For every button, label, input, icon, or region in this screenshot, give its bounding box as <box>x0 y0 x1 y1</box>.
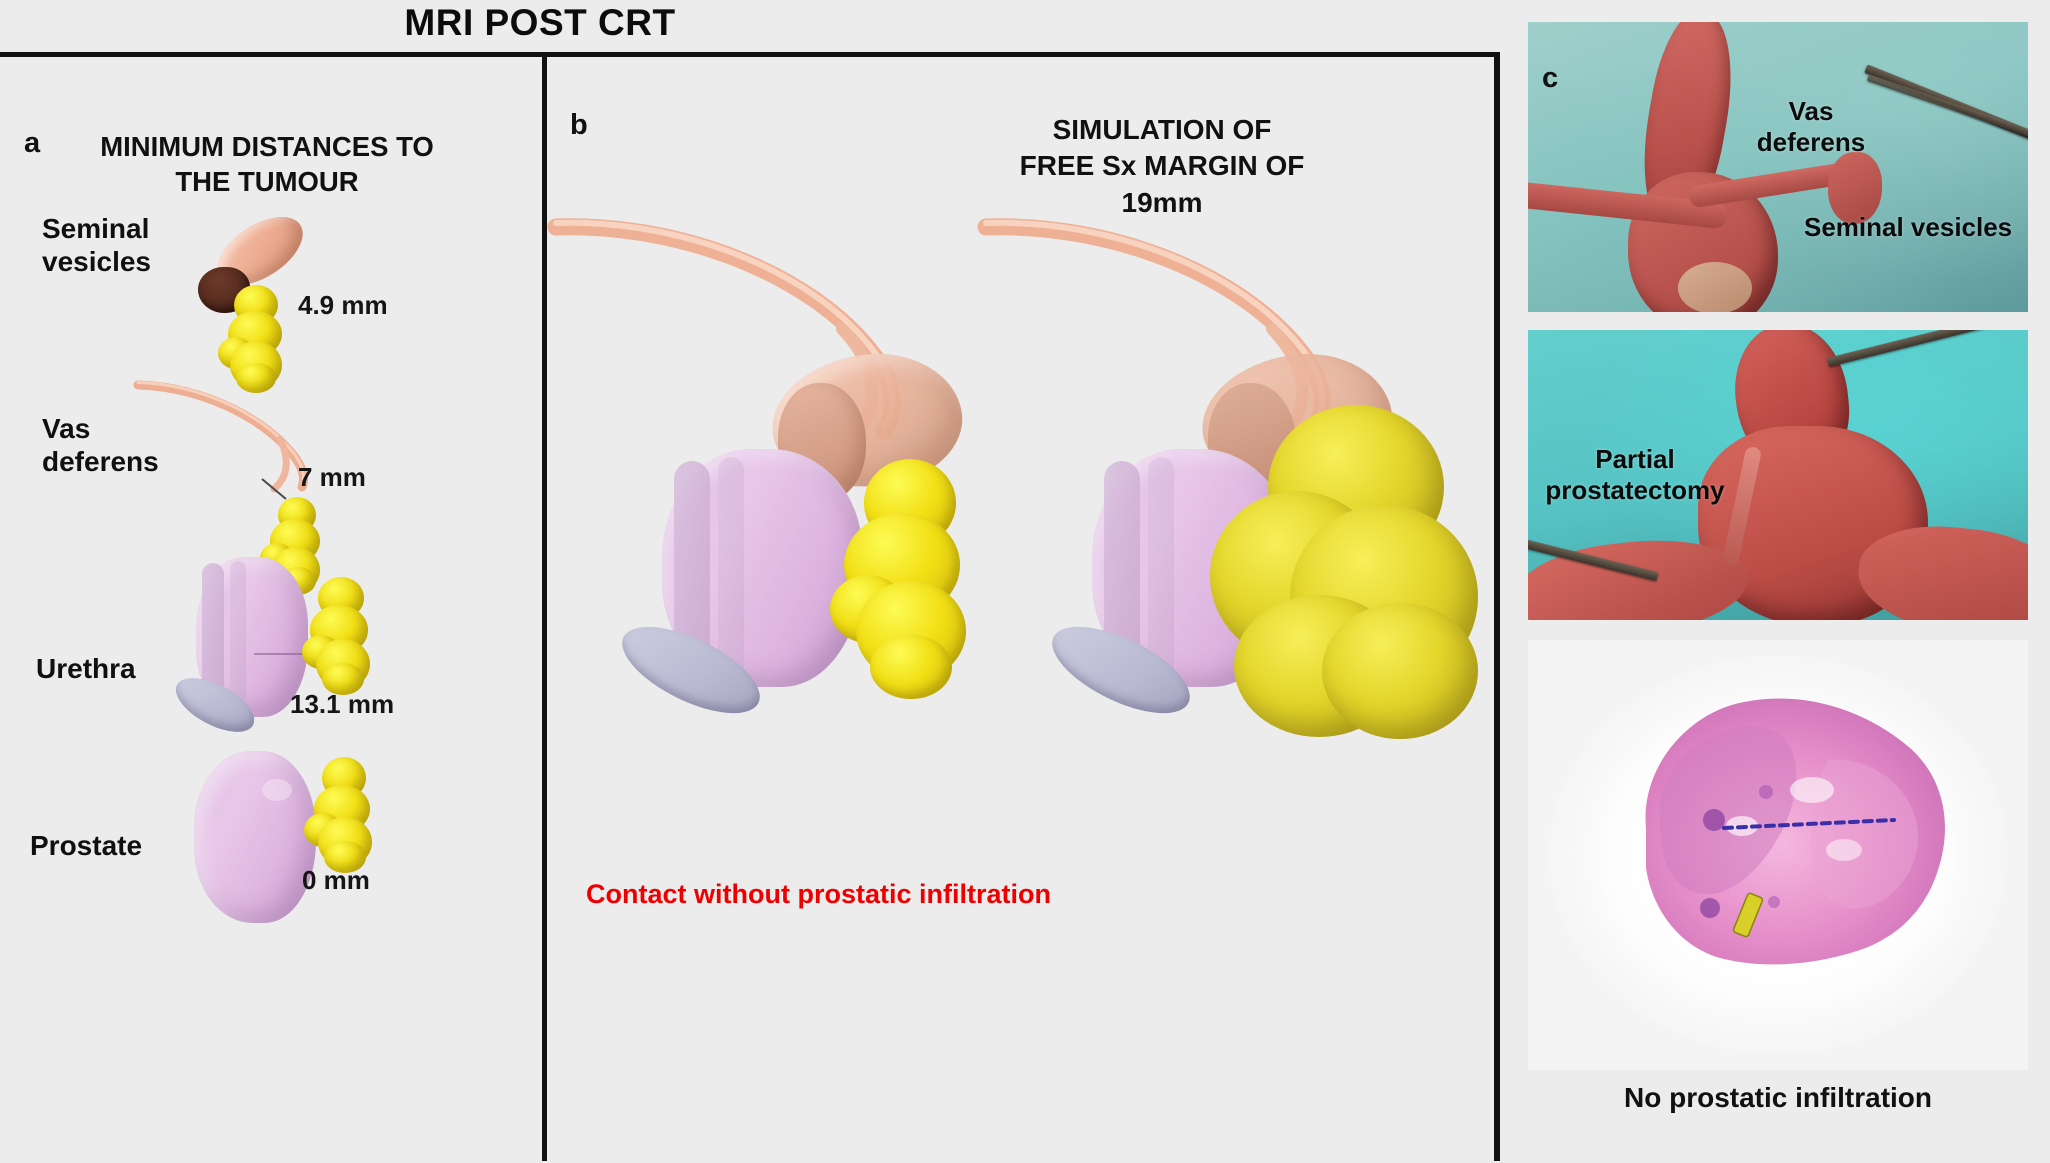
panel-a-title-line1: MINIMUM DISTANCES TO <box>100 131 434 162</box>
panel-a-title-line2: THE TUMOUR <box>175 166 358 197</box>
photo-label-vas-line1: Vas <box>1789 96 1834 126</box>
figure-root: MRI POST CRT a MINIMUM DISTANCES TO THE … <box>0 0 2050 1163</box>
panel-b: b SIMULATION OF FREE Sx MARGIN OF 19mm <box>552 57 1500 1161</box>
photo-partial-prostatectomy: Partial prostatectomy <box>1528 330 2028 620</box>
distance-urethra: 13.1 mm <box>290 689 394 720</box>
photo-specimen-vas-deferens: c Vas deferens Seminal vesicles <box>1528 22 2028 312</box>
panel-c-caption: No prostatic infiltration <box>1528 1082 2028 1114</box>
model-3d-actual-tumour <box>542 187 1042 827</box>
panel-b-title-line2: FREE Sx MARGIN OF <box>1020 150 1305 181</box>
row-label-line1: Prostate <box>30 830 142 861</box>
panel-b-letter: b <box>570 109 588 142</box>
model-3d-simulated-margin <box>972 187 1492 827</box>
row-label-line1: Urethra <box>36 653 136 684</box>
distance-prostate: 0 mm <box>302 865 370 896</box>
row-label-line2: vesicles <box>42 246 151 277</box>
panel-b-caption: Contact without prostatic infiltration <box>586 879 1051 910</box>
figure-banner: MRI POST CRT <box>0 0 1500 52</box>
distance-seminal-vesicles: 4.9 mm <box>298 290 388 321</box>
photo-label-partial-line1: Partial <box>1595 444 1675 474</box>
photo-histology-slide <box>1528 640 2028 1070</box>
panel-a: a MINIMUM DISTANCES TO THE TUMOUR Semina… <box>2 57 547 1161</box>
panel-c: c Vas deferens Seminal vesicles Partial … <box>1506 0 2050 1163</box>
histology-section-svg <box>1528 640 2028 1070</box>
banner-title: MRI POST CRT <box>0 2 1080 44</box>
panel-a-title: MINIMUM DISTANCES TO THE TUMOUR <box>57 129 477 199</box>
photo-label-vas-line2: deferens <box>1757 127 1865 157</box>
row-label-line1: Vas <box>42 413 90 444</box>
panel-c-letter: c <box>1542 62 1558 95</box>
photo-label-seminal-vesicles: Seminal vesicles <box>1804 212 2028 243</box>
panel-b-title-line1: SIMULATION OF <box>1053 114 1272 145</box>
distance-vas-deferens: 7 mm <box>298 462 366 493</box>
photo-label-partial-prostatectomy: Partial prostatectomy <box>1530 444 1740 505</box>
row-label-seminal-vesicles: Seminal vesicles <box>42 212 232 278</box>
photo-label-vas-deferens: Vas deferens <box>1746 96 1876 157</box>
panel-a-letter: a <box>24 127 40 160</box>
photo-label-partial-line2: prostatectomy <box>1545 475 1724 505</box>
row-label-line1: Seminal <box>42 213 149 244</box>
